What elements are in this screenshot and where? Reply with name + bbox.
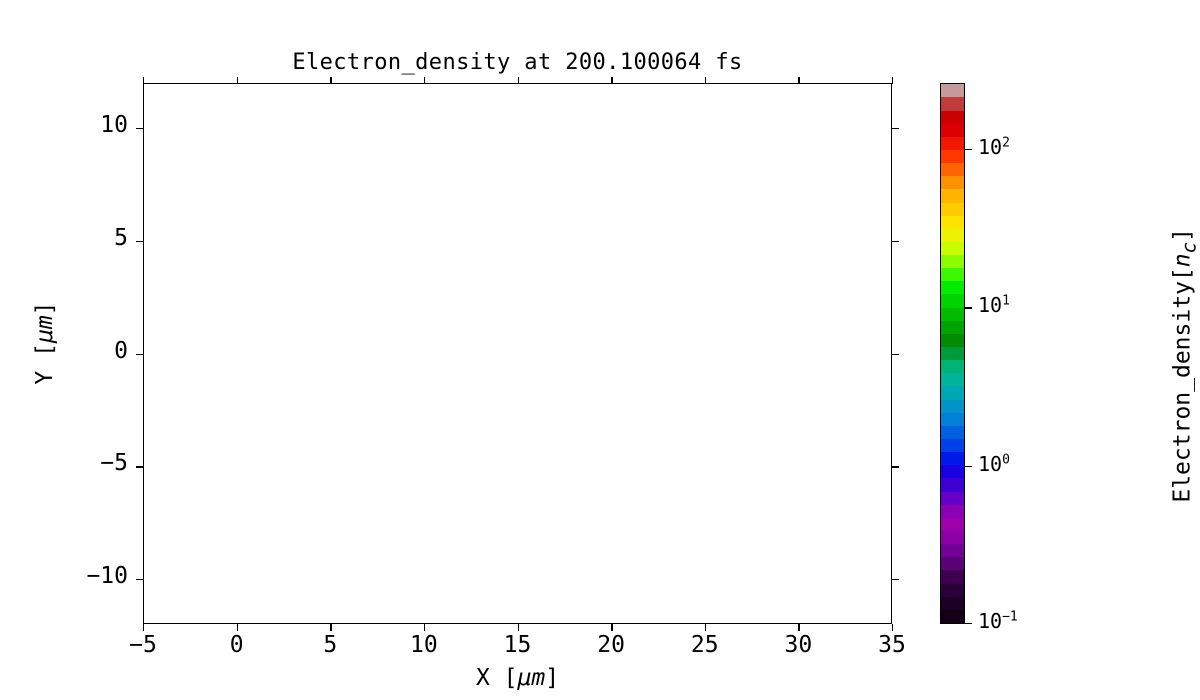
colorbar-band xyxy=(941,281,964,294)
colorbar-tick xyxy=(965,307,972,308)
colorbar-band xyxy=(941,531,964,544)
y-tick xyxy=(136,241,143,242)
y-tick-right xyxy=(892,128,899,129)
main-axes xyxy=(143,83,892,624)
electron-density-heatmap xyxy=(144,84,891,623)
colorbar-band xyxy=(941,492,964,505)
colorbar-band xyxy=(941,465,964,478)
colorbar-band xyxy=(941,373,964,386)
colorbar-band xyxy=(941,111,964,124)
colorbar-band xyxy=(941,478,964,491)
colorbar-band xyxy=(941,294,964,307)
y-tick-label: 10 xyxy=(48,112,128,138)
colorbar-band xyxy=(941,505,964,518)
y-tick xyxy=(136,128,143,129)
colorbar-band xyxy=(941,163,964,176)
x-tick-label: 25 xyxy=(665,632,745,658)
colorbar-band xyxy=(941,150,964,163)
colorbar-tick-label: 100 xyxy=(978,452,1010,476)
colorbar-band xyxy=(941,84,964,97)
x-tick xyxy=(705,624,706,631)
x-tick-top xyxy=(705,77,706,84)
colorbar-band xyxy=(941,584,964,597)
colorbar-band xyxy=(941,229,964,242)
x-tick-top xyxy=(892,77,893,84)
colorbar-tick-label: 101 xyxy=(978,293,1010,317)
x-tick xyxy=(892,624,893,631)
colorbar-band xyxy=(941,334,964,347)
y-tick-right xyxy=(892,579,899,580)
colorbar-band xyxy=(941,242,964,255)
colorbar-tick-label: 10−1 xyxy=(978,609,1018,633)
y-tick xyxy=(136,354,143,355)
colorbar-band xyxy=(941,557,964,570)
colorbar-band xyxy=(941,386,964,399)
y-tick xyxy=(136,466,143,467)
x-tick xyxy=(798,624,799,631)
x-tick-top xyxy=(237,77,238,84)
y-tick-right xyxy=(892,466,899,467)
colorbar-tick xyxy=(965,149,972,150)
y-tick-label: −5 xyxy=(48,450,128,476)
y-tick-right xyxy=(892,354,899,355)
colorbar-band xyxy=(941,124,964,137)
colorbar-band xyxy=(941,544,964,557)
x-tick-top xyxy=(424,77,425,84)
y-tick-label: −10 xyxy=(48,563,128,589)
figure-canvas: Electron_density at 200.100064 fs −50510… xyxy=(0,0,1200,700)
colorbar-band xyxy=(941,137,964,150)
colorbar-band xyxy=(941,347,964,360)
x-tick-top xyxy=(611,77,612,84)
x-tick xyxy=(611,624,612,631)
colorbar-band xyxy=(941,610,964,623)
x-tick-top xyxy=(330,77,331,84)
plot-title: Electron_density at 200.100064 fs xyxy=(143,50,892,75)
x-tick-label: 0 xyxy=(197,632,277,658)
colorbar-tick-label: 102 xyxy=(978,135,1010,159)
x-tick-top xyxy=(518,77,519,84)
x-axis-label: X [μm] xyxy=(143,665,892,691)
x-tick-label: 35 xyxy=(852,632,932,658)
colorbar-band xyxy=(941,597,964,610)
x-tick-label: 5 xyxy=(290,632,370,658)
x-tick xyxy=(518,624,519,631)
colorbar-band xyxy=(941,321,964,334)
colorbar-band xyxy=(941,426,964,439)
colorbar-band xyxy=(941,189,964,202)
x-tick-label: 30 xyxy=(758,632,838,658)
x-tick-label: −5 xyxy=(103,632,183,658)
colorbar-band xyxy=(941,255,964,268)
y-tick-right xyxy=(892,241,899,242)
colorbar-band xyxy=(941,439,964,452)
colorbar-tick xyxy=(965,623,972,624)
colorbar-band xyxy=(941,176,964,189)
y-tick xyxy=(136,579,143,580)
x-tick xyxy=(330,624,331,631)
colorbar-band xyxy=(941,413,964,426)
x-tick-label: 10 xyxy=(384,632,464,658)
y-tick-label: 0 xyxy=(48,338,128,364)
x-tick xyxy=(143,624,144,631)
y-axis-label: Y [μm] xyxy=(32,243,58,443)
x-tick-top xyxy=(798,77,799,84)
colorbar-band xyxy=(941,203,964,216)
colorbar xyxy=(940,83,965,624)
colorbar-band xyxy=(941,308,964,321)
x-tick xyxy=(424,624,425,631)
colorbar-tick xyxy=(965,466,972,467)
colorbar-band xyxy=(941,452,964,465)
x-tick-label: 15 xyxy=(478,632,558,658)
colorbar-band xyxy=(941,518,964,531)
colorbar-band xyxy=(941,360,964,373)
colorbar-band xyxy=(941,570,964,583)
colorbar-band xyxy=(941,97,964,110)
colorbar-band xyxy=(941,400,964,413)
x-tick-top xyxy=(143,77,144,84)
y-tick-label: 5 xyxy=(48,225,128,251)
x-tick xyxy=(237,624,238,631)
x-tick-label: 20 xyxy=(571,632,651,658)
colorbar-band xyxy=(941,268,964,281)
colorbar-label: Electron_density[nc] xyxy=(1170,155,1200,575)
colorbar-band xyxy=(941,216,964,229)
